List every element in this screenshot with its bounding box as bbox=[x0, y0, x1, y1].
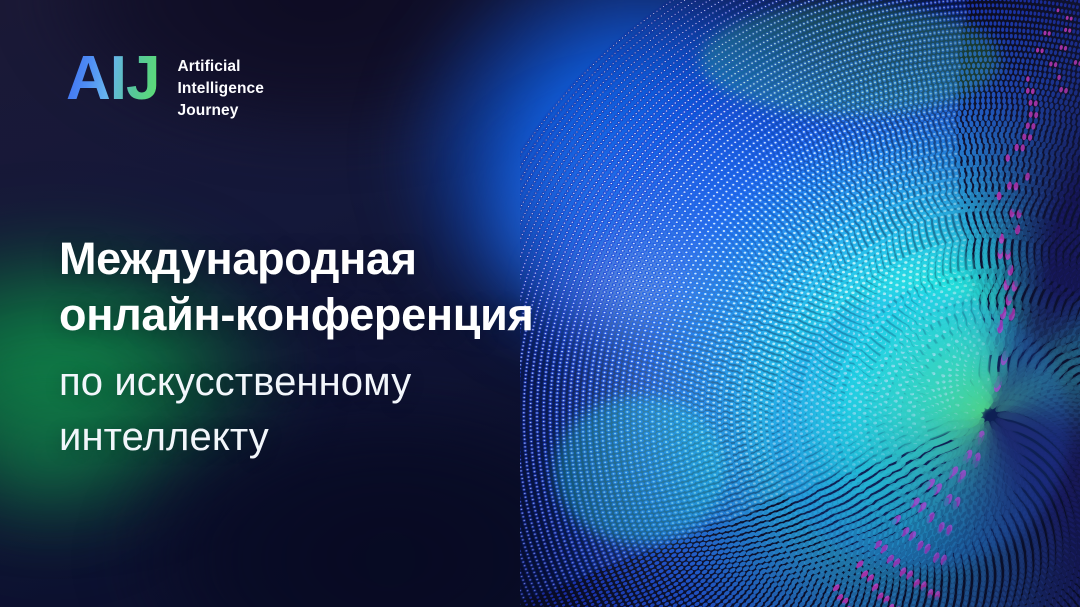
promo-banner: AIJ Artificial Intelligence Journey Межд… bbox=[0, 0, 1080, 607]
headline-light-line-1: по искусственному bbox=[59, 355, 679, 410]
logo-word-journey: Journey bbox=[177, 100, 263, 122]
aij-logo-wordmark: Artificial Intelligence Journey bbox=[177, 52, 263, 122]
aij-logo[interactable]: AIJ Artificial Intelligence Journey bbox=[66, 52, 264, 122]
headline-block: Международная онлайн-конференция по иску… bbox=[59, 231, 679, 465]
aij-logo-mark: AIJ bbox=[66, 52, 159, 105]
headline-light-block: по искусственному интеллекту bbox=[59, 355, 679, 465]
headline-bold-line-2: онлайн-конференция bbox=[59, 287, 679, 343]
logo-word-artificial: Artificial bbox=[177, 56, 263, 78]
headline-light-line-2: интеллекту bbox=[59, 410, 679, 465]
logo-word-intelligence: Intelligence bbox=[177, 78, 263, 100]
headline-bold-line-1: Международная bbox=[59, 231, 679, 287]
